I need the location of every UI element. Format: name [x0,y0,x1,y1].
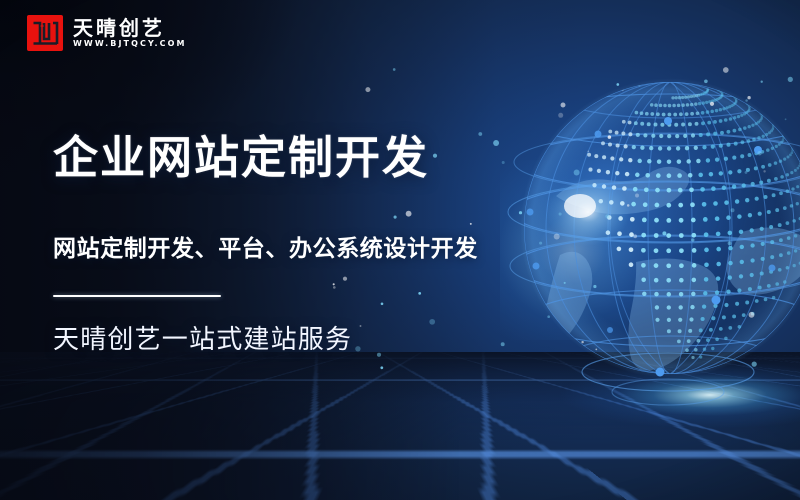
promo-banner: 天晴创艺 WWW.BJTQCY.COM 企业网站定制开发 网站定制开发、平台、办… [0,0,800,500]
logo-website-url: WWW.BJTQCY.COM [73,40,187,48]
page-title: 企业网站定制开发 [53,135,478,180]
hero-subtitle: 网站定制开发、平台、办公系统设计开发 [53,238,478,261]
divider-rule [53,295,221,297]
tianqing-chuangyi-logo-mark-icon [26,14,64,52]
hexagon-grid-floor [0,352,800,500]
hero-tagline: 天晴创艺一站式建站服务 [53,327,478,353]
hero-copy-block: 企业网站定制开发 网站定制开发、平台、办公系统设计开发 天晴创艺一站式建站服务 [53,135,478,353]
site-logo[interactable]: 天晴创艺 WWW.BJTQCY.COM [26,14,187,52]
logo-company-name: 天晴创艺 [73,18,187,38]
logo-text-block: 天晴创艺 WWW.BJTQCY.COM [73,18,187,48]
